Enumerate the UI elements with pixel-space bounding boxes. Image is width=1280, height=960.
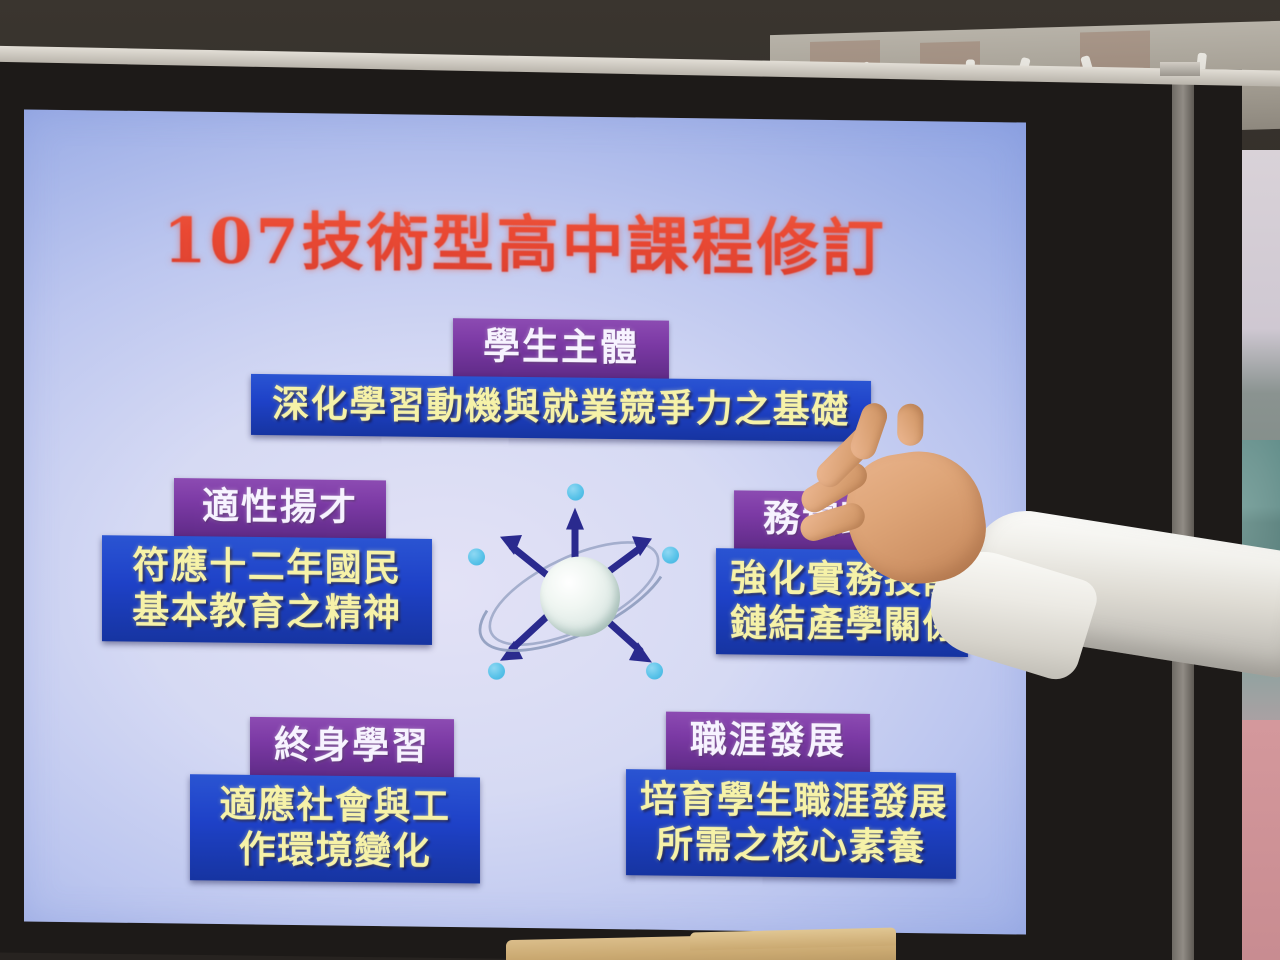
node-body-line: 所需之核心素養 (640, 821, 942, 870)
node-lifelong-learning: 終身學習 適應社會與工 作環境變化 (190, 716, 480, 883)
orbit-dot (567, 483, 584, 500)
node-header: 終身學習 (250, 717, 454, 777)
center-graphic (454, 470, 694, 703)
node-header: 適性揚才 (174, 478, 386, 538)
node-body: 符應十二年國民 基本教育之精神 (102, 535, 432, 645)
node-practical-application: 務實致用 強化實務技能 鏈結產學關係 (716, 490, 968, 657)
node-body-line: 深化學習動機與就業競爭力之基礎 (265, 381, 857, 433)
node-career-development: 職涯發展 培育學生職涯發展 所需之核心素養 (626, 711, 956, 879)
node-body-line: 適應社會與工 (204, 781, 466, 829)
node-body: 深化學習動機與就業競爭力之基礎 (251, 374, 871, 442)
orbit-dot (646, 662, 663, 679)
presentation-photo: 107技術型高中課程修訂 (0, 0, 1280, 960)
node-body-line: 鏈結產學關係 (730, 600, 954, 648)
node-body-line: 培育學生職涯發展 (640, 776, 942, 825)
orbit-dot (488, 663, 505, 680)
screen-frame-right-edge (1172, 66, 1194, 960)
node-body: 培育學生職涯發展 所需之核心素養 (626, 769, 956, 879)
node-body-line: 符應十二年國民 (116, 542, 418, 591)
orbit-dot (468, 548, 485, 565)
node-body: 適應社會與工 作環境變化 (190, 774, 480, 884)
node-header: 職涯發展 (666, 712, 870, 772)
screen-frame-corner-cap (1160, 62, 1200, 76)
node-body-line: 強化實務技能 (730, 555, 954, 603)
node-header: 務實致用 (734, 490, 948, 550)
slide-title: 107技術型高中課程修訂 (24, 188, 1026, 289)
node-aptitude-development: 適性揚才 符應十二年國民 基本教育之精神 (102, 477, 432, 645)
node-body-line: 基本教育之精神 (116, 587, 418, 636)
node-student-centered: 學生主體 深化學習動機與就業競爭力之基礎 (251, 316, 871, 442)
center-sphere (540, 556, 620, 637)
node-body-line: 作環境變化 (204, 826, 466, 874)
projected-slide: 107技術型高中課程修訂 (24, 109, 1026, 934)
node-header: 學生主體 (453, 318, 669, 378)
orbit-dot (662, 547, 679, 564)
node-body: 強化實務技能 鏈結產學關係 (716, 548, 968, 657)
